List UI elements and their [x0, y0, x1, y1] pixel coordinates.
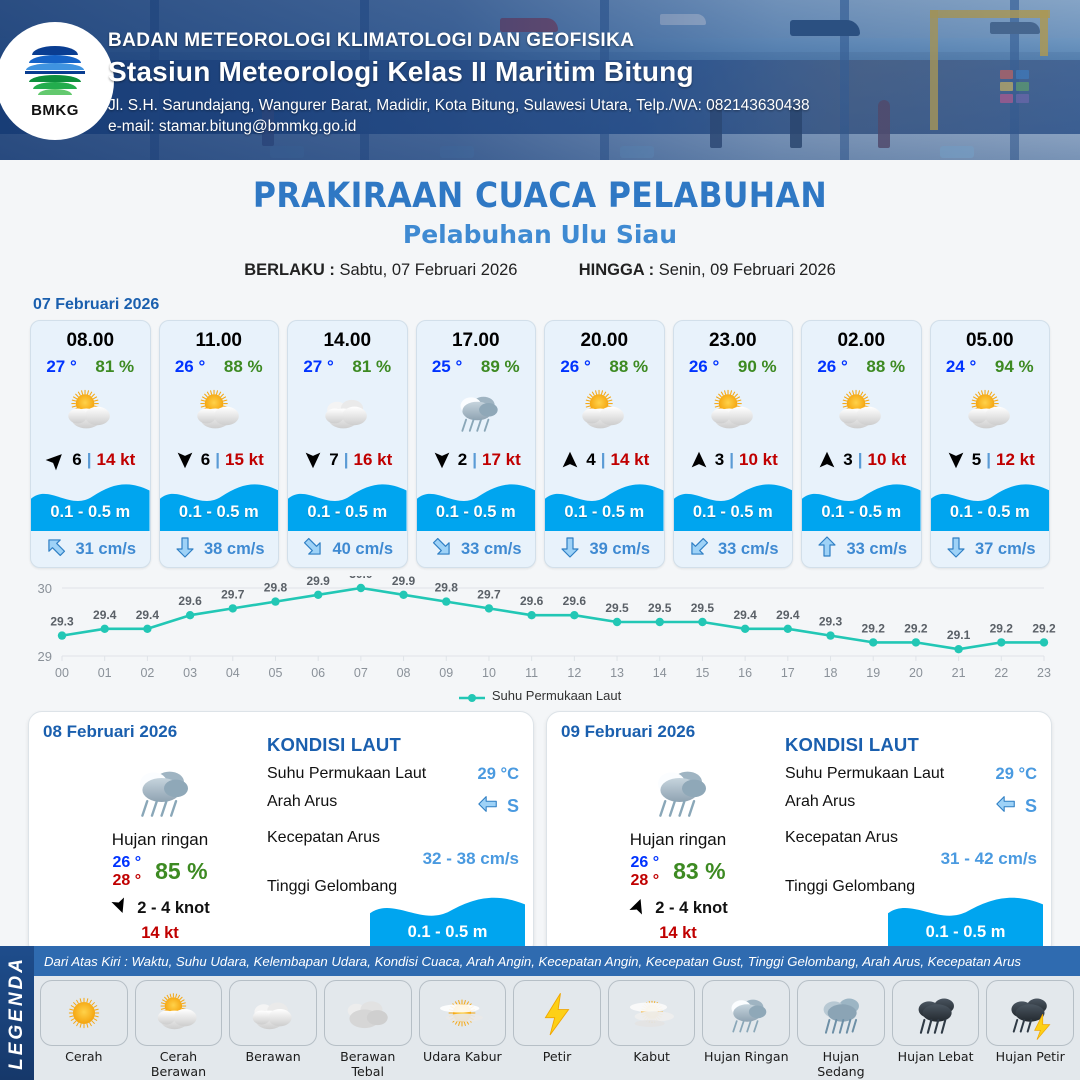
svg-text:29.1: 29.1 [947, 628, 971, 642]
current-direction-arrow-icon [815, 535, 839, 564]
validity-line: BERLAKU : Sabtu, 07 Februari 2026 HINGGA… [0, 261, 1080, 280]
svg-text:14: 14 [653, 666, 667, 680]
wind-direction-value: 7 [329, 450, 338, 470]
svg-text:29.4: 29.4 [93, 608, 117, 622]
gust-speed: 17 kt [482, 450, 521, 470]
svg-text:29: 29 [38, 649, 52, 664]
current-speed-value: 38 cm/s [204, 540, 265, 559]
wave-height-block: 0.1 - 0.5 m [160, 479, 279, 531]
wave-height-block: 0.1 - 0.5 m [674, 479, 793, 531]
current-speed-value: 33 cm/s [461, 540, 522, 559]
daily-temp-min: 26 ° [630, 854, 659, 872]
bmkg-logo-text: BMKG [31, 102, 79, 119]
daily-temp-max: 28 ° [630, 872, 659, 890]
daily-gust-speed: 14 kt [55, 924, 265, 943]
wave-height-value: 0.1 - 0.5 m [31, 503, 150, 522]
card-time: 02.00 [802, 321, 921, 352]
legend-item-label: Kabut [608, 1049, 696, 1064]
wave-height-block: 0.1 - 0.5 m [288, 479, 407, 531]
current-speed-value: 31 - 42 cm/s [785, 849, 1037, 869]
wind-direction-value: 6 [201, 450, 210, 470]
legend-item-label: Berawan [229, 1049, 317, 1064]
daily-temp-min: 26 ° [112, 854, 141, 872]
gust-speed: 16 kt [353, 450, 392, 470]
svg-text:29.4: 29.4 [733, 608, 757, 622]
svg-text:29.6: 29.6 [520, 594, 544, 608]
valid-from-value: Sabtu, 07 Februari 2026 [340, 261, 518, 279]
card-temperature: 26 ° [817, 357, 847, 377]
svg-text:29.5: 29.5 [648, 601, 672, 615]
weather-hujan-sedang-icon [797, 980, 885, 1046]
svg-text:29.2: 29.2 [990, 621, 1014, 635]
card-humidity: 81 % [352, 357, 391, 377]
current-speed-value: 33 cm/s [718, 540, 779, 559]
wind-separator: | [215, 450, 220, 470]
legend-item: Hujan Sedang [797, 980, 885, 1079]
header-org-name: BADAN METEOROLOGI KLIMATOLOGI DAN GEOFIS… [108, 30, 810, 52]
svg-text:29.5: 29.5 [605, 601, 629, 615]
wave-height-value: 0.1 - 0.5 m [931, 503, 1050, 522]
svg-text:11: 11 [525, 666, 538, 680]
gust-speed: 10 kt [739, 450, 778, 470]
daily-forecast-panel: 09 Februari 2026 Hujan ringan 26 ° 28 ° … [546, 711, 1052, 957]
wave-height-value: 0.1 - 0.5 m [288, 503, 407, 522]
card-temperature: 25 ° [432, 357, 462, 377]
hourly-card: 17.00 25 ° 89 % 2 | 17 kt 0.1 - 0.5 m [416, 320, 537, 568]
card-humidity: 90 % [738, 357, 777, 377]
daily-condition: Hujan ringan [55, 830, 265, 850]
svg-text:29.7: 29.7 [221, 587, 245, 601]
legend-item-label: Hujan Petir [986, 1049, 1074, 1064]
legend-item: Hujan Lebat [892, 980, 980, 1079]
weather-hujan-lebat-icon [892, 980, 980, 1046]
current-speed-value: 33 cm/s [846, 540, 907, 559]
legend-note: Dari Atas Kiri : Waktu, Suhu Udara, Kele… [34, 946, 1080, 976]
svg-text:08: 08 [397, 666, 411, 680]
wave-height-value: 0.1 - 0.5 m [370, 923, 525, 942]
svg-text:19: 19 [866, 666, 880, 680]
hourly-card: 08.00 27 ° 81 % 6 | 14 kt 0.1 - 0.5 m 31… [30, 320, 151, 568]
svg-text:29.9: 29.9 [392, 576, 416, 588]
svg-text:29.4: 29.4 [776, 608, 800, 622]
current-speed-value: 39 cm/s [589, 540, 650, 559]
card-humidity: 89 % [481, 357, 520, 377]
daily-wind-speed: 2 - 4 knot [655, 899, 727, 918]
card-humidity: 88 % [609, 357, 648, 377]
weather-cerah-icon [40, 980, 128, 1046]
current-direction-label: Arah Arus [267, 793, 337, 811]
current-speed-value: 37 cm/s [975, 540, 1036, 559]
svg-text:29.5: 29.5 [691, 601, 715, 615]
svg-text:22: 22 [994, 666, 1008, 680]
svg-text:30.0: 30.0 [349, 576, 373, 581]
card-temperature: 24 ° [946, 357, 976, 377]
page-title: PRAKIRAAN CUACA PELABUHAN [0, 176, 1080, 216]
wave-height-block: 0.1 - 0.5 m [31, 479, 150, 531]
daily-gust-speed: 14 kt [573, 924, 783, 943]
hourly-card: 20.00 26 ° 88 % 4 | 14 kt 0.1 - 0.5 m 39… [544, 320, 665, 568]
current-speed-value: 31 cm/s [75, 540, 136, 559]
wind-direction-arrow-icon [945, 449, 967, 471]
svg-text:29.2: 29.2 [1032, 621, 1056, 635]
svg-text:01: 01 [98, 666, 112, 680]
sst-value: 29 °C [478, 765, 519, 784]
card-time: 08.00 [31, 321, 150, 352]
wind-direction-value: 6 [72, 450, 81, 470]
weather-hujan-petir-icon [986, 980, 1074, 1046]
svg-text:03: 03 [183, 666, 197, 680]
svg-text:30: 30 [38, 581, 52, 596]
current-direction-arrow-icon [44, 535, 68, 564]
svg-text:04: 04 [226, 666, 240, 680]
weather-berawan-icon [229, 980, 317, 1046]
weather-cerah-berawan-icon [31, 379, 150, 443]
svg-text:09: 09 [439, 666, 453, 680]
weather-hujan-ringan-icon [573, 752, 783, 828]
wave-height-block: 0.1 - 0.5 m [545, 479, 664, 531]
svg-text:29.2: 29.2 [862, 621, 886, 635]
legend-sidebar: LEGENDA [0, 946, 34, 1080]
weather-cerah-berawan-icon [802, 379, 921, 443]
current-speed-value: 40 cm/s [332, 540, 393, 559]
chart-legend-marker [459, 691, 485, 701]
legend-item-label: Hujan Lebat [892, 1049, 980, 1064]
legend-item: Cerah Berawan [135, 980, 223, 1079]
wind-separator: | [344, 450, 349, 470]
current-direction-arrow-icon [558, 535, 582, 564]
sea-condition-title: KONDISI LAUT [267, 734, 519, 756]
wind-direction-arrow-icon [302, 449, 324, 471]
hourly-card: 02.00 26 ° 88 % 3 | 10 kt 0.1 - 0.5 m 33… [801, 320, 922, 568]
card-time: 05.00 [931, 321, 1050, 352]
page-subtitle: Pelabuhan Ulu Siau [0, 220, 1080, 249]
svg-text:29.2: 29.2 [904, 621, 928, 635]
current-direction-value: S [507, 796, 519, 817]
wind-direction-value: 3 [843, 450, 852, 470]
wind-separator: | [601, 450, 606, 470]
wave-height-block: 0.1 - 0.5 m [888, 892, 1043, 948]
legend-item-label: Hujan Sedang [797, 1049, 885, 1079]
wind-separator: | [729, 450, 734, 470]
svg-text:00: 00 [55, 666, 69, 680]
weather-kabut-icon [608, 980, 696, 1046]
sst-value: 29 °C [996, 765, 1037, 784]
card-temperature: 26 ° [560, 357, 590, 377]
daily-forecast-row: 08 Februari 2026 Hujan ringan 26 ° 28 ° … [0, 703, 1080, 957]
wind-direction-arrow-icon [628, 896, 648, 921]
current-direction-value: S [1025, 796, 1037, 817]
current-direction-label: Arah Arus [785, 793, 855, 811]
weather-petir-icon [513, 980, 601, 1046]
daily-condition: Hujan ringan [573, 830, 783, 850]
valid-until-value: Senin, 09 Februari 2026 [659, 261, 836, 279]
chart-legend: Suhu Permukaan Laut [0, 688, 1080, 703]
svg-text:29.8: 29.8 [264, 581, 288, 595]
legend-items: Cerah Cerah Berawan Berawan Berawan Teba… [40, 980, 1074, 1079]
wind-direction-value: 2 [458, 450, 467, 470]
wave-height-value: 0.1 - 0.5 m [888, 923, 1043, 942]
wave-height-value: 0.1 - 0.5 m [674, 503, 793, 522]
card-time: 11.00 [160, 321, 279, 352]
card-temperature: 27 ° [303, 357, 333, 377]
legend-item: Berawan [229, 980, 317, 1079]
hourly-card: 05.00 24 ° 94 % 5 | 12 kt 0.1 - 0.5 m 37… [930, 320, 1051, 568]
current-direction-arrow-icon [173, 535, 197, 564]
wind-direction-arrow-icon [688, 449, 710, 471]
svg-text:17: 17 [781, 666, 795, 680]
svg-text:29.6: 29.6 [178, 594, 202, 608]
wave-height-block: 0.1 - 0.5 m [931, 479, 1050, 531]
legend-item-label: Berawan Tebal [324, 1049, 412, 1079]
svg-text:29.9: 29.9 [306, 576, 330, 588]
current-speed-label: Kecepatan Arus [267, 829, 380, 847]
svg-text:29.6: 29.6 [563, 594, 587, 608]
wind-direction-value: 4 [586, 450, 595, 470]
svg-text:20: 20 [909, 666, 923, 680]
svg-text:29.8: 29.8 [435, 581, 459, 595]
svg-text:02: 02 [140, 666, 154, 680]
wave-height-value: 0.1 - 0.5 m [160, 503, 279, 522]
weather-berawan-tebal-icon [324, 980, 412, 1046]
legend-item-label: Udara Kabur [419, 1049, 507, 1064]
daily-wind-speed: 2 - 4 knot [137, 899, 209, 918]
sst-chart: 2930000102030405060708091011121314151617… [14, 576, 1066, 686]
weather-hujan-ringan-icon [702, 980, 790, 1046]
svg-text:29.4: 29.4 [136, 608, 160, 622]
wind-direction-value: 3 [715, 450, 724, 470]
card-time: 14.00 [288, 321, 407, 352]
svg-text:05: 05 [269, 666, 283, 680]
legend-item: Udara Kabur [419, 980, 507, 1079]
header-station-name: Stasiun Meteorologi Kelas II Maritim Bit… [108, 56, 810, 88]
wind-separator: | [986, 450, 991, 470]
legend-item: Kabut [608, 980, 696, 1079]
hourly-card: 11.00 26 ° 88 % 6 | 15 kt 0.1 - 0.5 m 38… [159, 320, 280, 568]
wave-height-value: 0.1 - 0.5 m [545, 503, 664, 522]
svg-text:07: 07 [354, 666, 368, 680]
svg-text:12: 12 [567, 666, 581, 680]
wind-separator: | [87, 450, 92, 470]
legend-section: LEGENDA Dari Atas Kiri : Waktu, Suhu Uda… [0, 946, 1080, 1080]
legend-item: Cerah [40, 980, 128, 1079]
weather-cerah-berawan-icon [135, 980, 223, 1046]
sea-condition-title: KONDISI LAUT [785, 734, 1037, 756]
card-time: 23.00 [674, 321, 793, 352]
valid-from-label: BERLAKU : [244, 261, 335, 279]
hourly-card: 14.00 27 ° 81 % 7 | 16 kt 0.1 - 0.5 m 40… [287, 320, 408, 568]
svg-text:29.7: 29.7 [477, 587, 501, 601]
weather-hujan-ringan-icon [55, 752, 265, 828]
card-time: 17.00 [417, 321, 536, 352]
hourly-date-label: 07 Februari 2026 [33, 296, 1080, 314]
gust-speed: 10 kt [867, 450, 906, 470]
wind-direction-arrow-icon [431, 449, 453, 471]
legend-item: Berawan Tebal [324, 980, 412, 1079]
wave-height-block: 0.1 - 0.5 m [370, 892, 525, 948]
svg-text:29.3: 29.3 [819, 615, 843, 629]
current-speed-value: 32 - 38 cm/s [267, 849, 519, 869]
legend-item-label: Cerah [40, 1049, 128, 1064]
valid-until-label: HINGGA : [579, 261, 654, 279]
header-address: Jl. S.H. Sarundajang, Wangurer Barat, Ma… [108, 97, 810, 115]
wave-height-value: 0.1 - 0.5 m [802, 503, 921, 522]
card-humidity: 81 % [95, 357, 134, 377]
gust-speed: 14 kt [96, 450, 135, 470]
card-time: 20.00 [545, 321, 664, 352]
card-humidity: 88 % [224, 357, 263, 377]
card-humidity: 94 % [995, 357, 1034, 377]
svg-text:13: 13 [610, 666, 624, 680]
svg-text:23: 23 [1037, 666, 1051, 680]
wave-height-block: 0.1 - 0.5 m [417, 479, 536, 531]
current-direction-arrow-icon [477, 793, 499, 820]
wind-direction-arrow-icon [45, 449, 67, 471]
page-header: BMKG BADAN METEOROLOGI KLIMATOLOGI DAN G… [0, 0, 1080, 160]
legend-item-label: Cerah Berawan [135, 1049, 223, 1079]
hourly-forecast-row: 08.00 27 ° 81 % 6 | 14 kt 0.1 - 0.5 m 31… [0, 320, 1080, 568]
weather-cerah-berawan-icon [545, 379, 664, 443]
weather-cerah-berawan-icon [674, 379, 793, 443]
current-direction-arrow-icon [687, 535, 711, 564]
wind-direction-arrow-icon [174, 449, 196, 471]
gust-speed: 15 kt [225, 450, 264, 470]
card-temperature: 26 ° [175, 357, 205, 377]
current-speed-label: Kecepatan Arus [785, 829, 898, 847]
wave-height-value: 0.1 - 0.5 m [417, 503, 536, 522]
title-section: PRAKIRAAN CUACA PELABUHAN Pelabuhan Ulu … [0, 160, 1080, 280]
svg-text:10: 10 [482, 666, 496, 680]
bmkg-logo-mark [22, 44, 88, 100]
header-email: e-mail: stamar.bitung@bmmkg.go.id [108, 118, 810, 136]
current-direction-arrow-icon [430, 535, 454, 564]
current-direction-arrow-icon [995, 793, 1017, 820]
card-temperature: 27 ° [46, 357, 76, 377]
current-direction-arrow-icon [301, 535, 325, 564]
svg-text:29.3: 29.3 [50, 615, 74, 629]
bmkg-logo: BMKG [0, 22, 114, 140]
legend-sidebar-text: LEGENDA [6, 956, 28, 1070]
legend-item-label: Petir [513, 1049, 601, 1064]
sst-label: Suhu Permukaan Laut [785, 765, 944, 783]
gust-speed: 14 kt [610, 450, 649, 470]
weather-berawan-icon [288, 379, 407, 443]
wind-direction-arrow-icon [816, 449, 838, 471]
legend-item: Hujan Ringan [702, 980, 790, 1079]
card-temperature: 26 ° [689, 357, 719, 377]
wave-height-block: 0.1 - 0.5 m [802, 479, 921, 531]
sst-label: Suhu Permukaan Laut [267, 765, 426, 783]
svg-text:21: 21 [952, 666, 966, 680]
legend-item-label: Hujan Ringan [702, 1049, 790, 1064]
wind-direction-value: 5 [972, 450, 981, 470]
daily-forecast-panel: 08 Februari 2026 Hujan ringan 26 ° 28 ° … [28, 711, 534, 957]
hourly-card: 23.00 26 ° 90 % 3 | 10 kt 0.1 - 0.5 m 33… [673, 320, 794, 568]
weather-cerah-berawan-icon [931, 379, 1050, 443]
weather-udara-kabur-icon [419, 980, 507, 1046]
wind-separator: | [858, 450, 863, 470]
svg-text:16: 16 [738, 666, 752, 680]
svg-text:18: 18 [824, 666, 838, 680]
daily-humidity: 85 % [155, 858, 207, 885]
legend-item: Petir [513, 980, 601, 1079]
current-direction-arrow-icon [944, 535, 968, 564]
legend-item: Hujan Petir [986, 980, 1074, 1079]
wind-separator: | [472, 450, 477, 470]
svg-text:15: 15 [695, 666, 709, 680]
weather-hujan-ringan-icon [417, 379, 536, 443]
gust-speed: 12 kt [996, 450, 1035, 470]
daily-temp-max: 28 ° [112, 872, 141, 890]
svg-text:06: 06 [311, 666, 325, 680]
chart-legend-label: Suhu Permukaan Laut [492, 688, 621, 703]
weather-cerah-berawan-icon [160, 379, 279, 443]
card-humidity: 88 % [866, 357, 905, 377]
daily-humidity: 83 % [673, 858, 725, 885]
wind-direction-arrow-icon [559, 449, 581, 471]
wind-direction-arrow-icon [110, 896, 130, 921]
